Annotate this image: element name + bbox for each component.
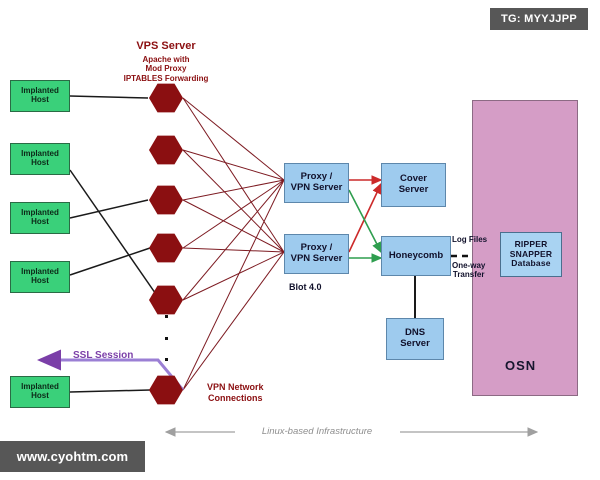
implanted-host-2[interactable]: Implanted Host bbox=[10, 143, 70, 175]
blot-version-label: Blot 4.0 bbox=[289, 282, 322, 293]
vps-node-6[interactable] bbox=[149, 375, 183, 405]
vps-node-4[interactable] bbox=[149, 233, 183, 263]
proxy-vpn-server-2[interactable]: Proxy / VPN Server bbox=[284, 234, 349, 274]
proxy-vpn-server-1[interactable]: Proxy / VPN Server bbox=[284, 163, 349, 203]
osn-zone-label: OSN bbox=[505, 358, 536, 373]
dns-server[interactable]: DNS Server bbox=[386, 318, 444, 360]
implanted-host-5[interactable]: Implanted Host bbox=[10, 376, 70, 408]
vps-node-1[interactable] bbox=[149, 83, 183, 113]
vps-node-3[interactable] bbox=[149, 185, 183, 215]
vps-to-proxy-links bbox=[183, 98, 284, 390]
vps-node-2[interactable] bbox=[149, 135, 183, 165]
host-links bbox=[70, 96, 160, 392]
proxy-to-honeycomb-links bbox=[349, 190, 381, 258]
implanted-host-1[interactable]: Implanted Host bbox=[10, 80, 70, 112]
vps-server-title: VPS Server bbox=[86, 40, 246, 53]
cover-server[interactable]: Cover Server bbox=[381, 163, 446, 207]
honeycomb-server[interactable]: Honeycomb bbox=[381, 236, 451, 276]
log-files-label: Log Files bbox=[452, 236, 487, 245]
website-watermark: www.cyohtm.com bbox=[0, 441, 145, 472]
proxy-to-cover-links bbox=[349, 180, 381, 252]
vps-node-5[interactable] bbox=[149, 285, 183, 315]
implanted-host-4[interactable]: Implanted Host bbox=[10, 261, 70, 293]
one-way-transfer-label: One-way Transfer bbox=[452, 262, 485, 280]
linux-infrastructure-label: Linux-based Infrastructure bbox=[237, 426, 397, 437]
ssl-session-label: SSL Session bbox=[73, 350, 133, 362]
network-diagram: OSN bbox=[0, 0, 600, 480]
vpn-network-connections-label: VPN Network Connections bbox=[207, 382, 264, 403]
ripper-snapper-database[interactable]: RIPPER SNAPPER Database bbox=[500, 232, 562, 277]
implanted-host-3[interactable]: Implanted Host bbox=[10, 202, 70, 234]
vps-ellipsis-icon bbox=[165, 315, 168, 361]
vps-server-subtitle: Apache with Mod Proxy IPTABLES Forwardin… bbox=[86, 55, 246, 83]
telegram-watermark: TG: MYYJJPP bbox=[490, 8, 588, 30]
